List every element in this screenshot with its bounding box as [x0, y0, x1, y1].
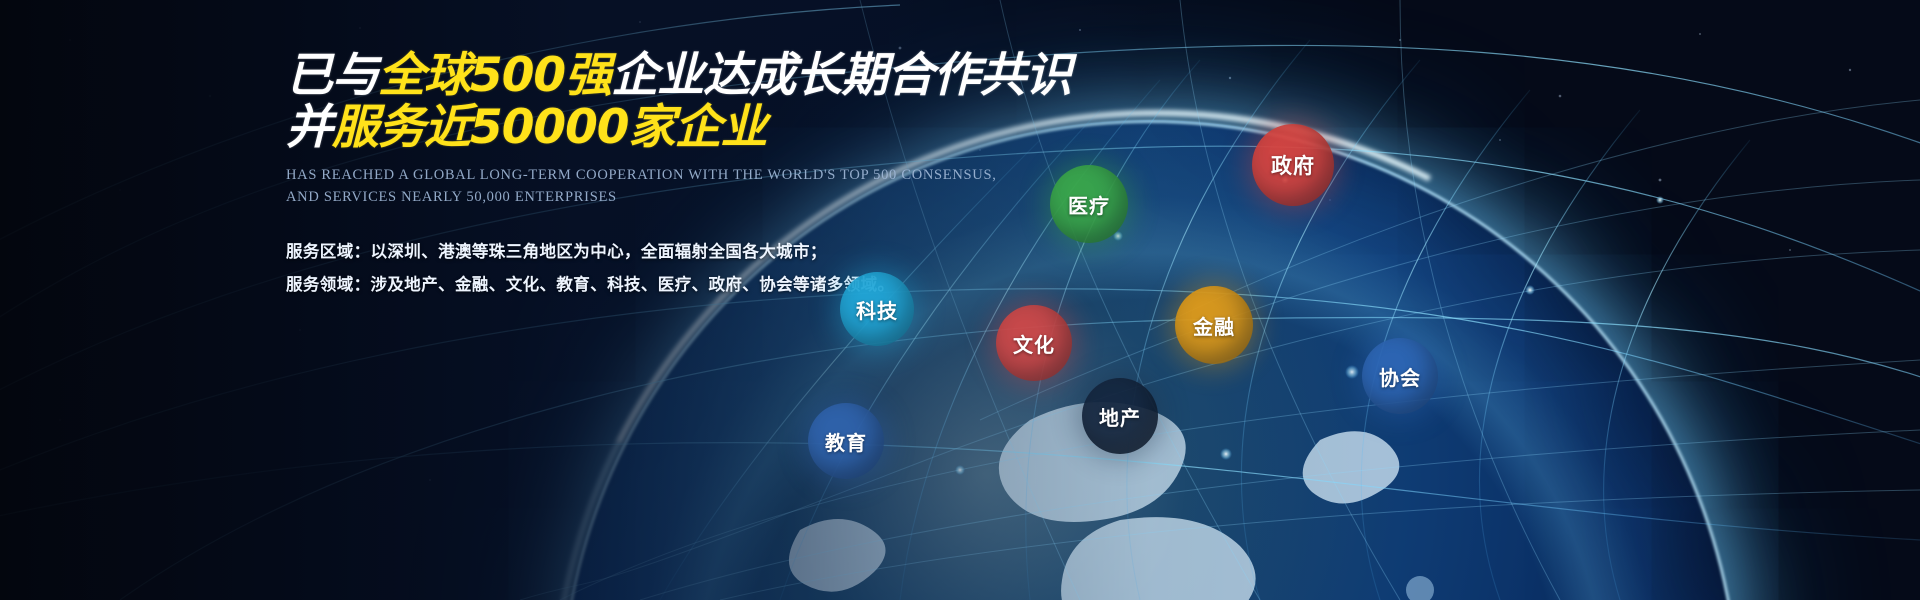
headline-line2-seg2: 服务近50000家企业 [332, 100, 767, 155]
industry-bubble-label: 金融 [1193, 311, 1235, 340]
industry-bubble-1[interactable]: 政府 [1252, 124, 1334, 206]
service-field-line: 服务领域：涉及地产、金融、文化、教育、科技、医疗、政府、协会等诸多领域。 [286, 269, 1046, 302]
english-subtitle-line-2: AND SERVICES NEARLY 50,000 ENTERPRISES [286, 187, 1046, 209]
industry-bubble-2[interactable]: 医疗 [1050, 165, 1128, 243]
copy-block: 已与全球500强企业达成长期合作共识 并服务近50000家企业 HAS REAC… [286, 52, 1046, 302]
english-subtitle-line-1: HAS REACHED A GLOBAL LONG-TERM COOPERATI… [286, 165, 1046, 187]
headline-line-2: 并服务近50000家企业 [286, 104, 1046, 152]
industry-bubble-label: 文化 [1013, 329, 1055, 358]
industry-bubble-label: 科技 [856, 295, 898, 324]
promotional-banner: 已与全球500强企业达成长期合作共识 并服务近50000家企业 HAS REAC… [0, 0, 1920, 600]
industry-bubble-label: 教育 [825, 427, 867, 456]
industry-bubble-3[interactable]: 科技 [840, 272, 914, 346]
service-region-line: 服务区域：以深圳、港澳等珠三角地区为中心，全面辐射全国各大城市； [286, 236, 1046, 269]
english-subtitle: HAS REACHED A GLOBAL LONG-TERM COOPERATI… [286, 165, 1046, 209]
industry-bubble-8[interactable]: 教育 [808, 403, 884, 479]
industry-bubble-label: 政府 [1271, 150, 1315, 180]
headline-line1-seg1: 已与 [286, 48, 378, 103]
headline-line1-seg2: 全球500强 [378, 48, 611, 103]
industry-bubble-6[interactable]: 协会 [1362, 338, 1438, 414]
headline-line-1: 已与全球500强企业达成长期合作共识 [286, 52, 1046, 100]
headline-line2-seg1: 并 [286, 100, 332, 155]
industry-bubble-label: 医疗 [1068, 190, 1110, 219]
industry-bubble-label: 协会 [1379, 362, 1421, 391]
body-text: 服务区域：以深圳、港澳等珠三角地区为中心，全面辐射全国各大城市； 服务领域：涉及… [286, 236, 1046, 302]
industry-bubble-4[interactable]: 文化 [996, 305, 1072, 381]
industry-bubble-5[interactable]: 金融 [1175, 286, 1253, 364]
headline-line1-seg3: 企业达成长期合作共识 [611, 48, 1071, 103]
industry-bubble-label: 地产 [1099, 402, 1141, 431]
industry-bubble-7[interactable]: 地产 [1082, 378, 1158, 454]
